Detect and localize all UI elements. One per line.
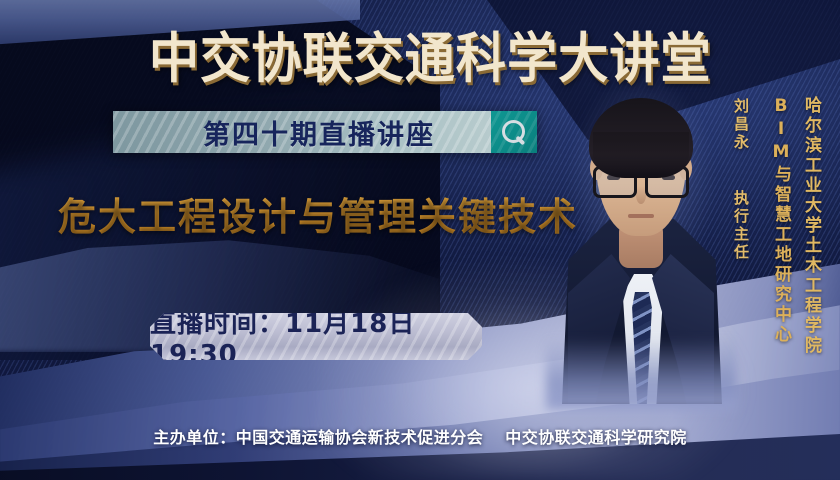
episode-label: 第四十期直播讲座 [203, 113, 491, 152]
speaker-research-center: BIM与智慧工地研究中心 [769, 96, 794, 345]
speaker-role: 执行主任 [731, 190, 752, 262]
organizer-primary: 主办单位：中国交通运输协会新技术促进分会 [153, 428, 483, 447]
organizer-secondary: 中交协联交通科学研究院 [505, 428, 687, 447]
speaker-organization: 哈尔滨工业大学土木工程学院 [799, 96, 824, 356]
broadcast-time-label: 直播时间：11月18日19:30 [150, 313, 482, 360]
organizer-footer: 主办单位：中国交通运输协会新技术促进分会中交协联交通科学研究院 [0, 424, 840, 448]
episode-banner: 第四十期直播讲座 [113, 111, 537, 153]
search-button[interactable] [491, 111, 537, 153]
broadcast-time-badge: 直播时间：11月18日19:30 [150, 313, 482, 360]
page-title: 中交协联交通科学大讲堂 [29, 14, 810, 93]
speaker-name: 刘昌永 [731, 98, 752, 152]
live-broadcast-poster: 中交协联交通科学大讲堂 第四十期直播讲座 危大工程设计与管理关键技术 直播时间：… [0, 0, 840, 480]
episode-banner-body: 第四十期直播讲座 [113, 111, 491, 153]
search-icon [501, 119, 527, 145]
lecture-headline: 危大工程设计与管理关键技术 [58, 186, 578, 241]
search-icon-handle [516, 136, 526, 146]
portrait-bottom-fade [546, 338, 736, 410]
portrait-mouth [628, 214, 654, 218]
speaker-portrait [556, 74, 726, 404]
